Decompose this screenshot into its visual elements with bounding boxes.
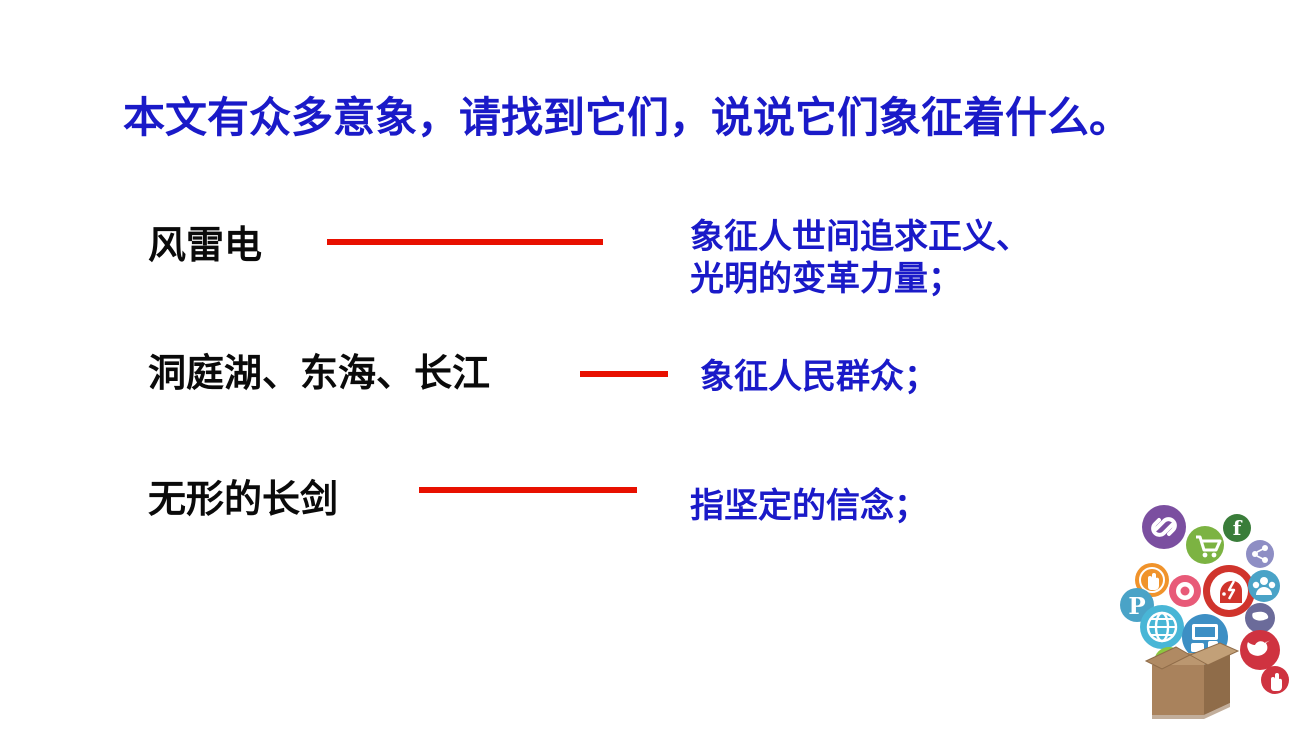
imagery-meaning-1: 象征人世间追求正义、 光明的变革力量； <box>690 216 1120 300</box>
click-hand-icon <box>1261 666 1289 694</box>
shopping-cart-icon <box>1186 526 1224 564</box>
connector-rule-3 <box>419 487 637 493</box>
page-title: 本文有众多意象，请找到它们，说说它们象征着什么。 <box>123 92 1173 144</box>
globe-icon <box>1140 605 1184 649</box>
imagery-meaning-1-line-2: 光明的变革力量； <box>690 258 1120 300</box>
imagery-meaning-1-line-1: 象征人世间追求正义、 <box>690 216 1120 258</box>
imagery-meaning-3: 指坚定的信念； <box>690 485 928 527</box>
connector-rule-1 <box>327 239 603 245</box>
share-icon <box>1246 540 1274 568</box>
slide-canvas: 本文有众多意象，请找到它们，说说它们象征着什么。 风雷电 象征人世间追求正义、 … <box>0 0 1296 729</box>
facebook-icon: f <box>1223 514 1251 542</box>
social-media-box-illustration: f P <box>1112 495 1292 720</box>
target-icon <box>1169 575 1201 607</box>
imagery-term-2: 洞庭湖、东海、长江 <box>148 350 490 396</box>
phone-icon <box>1245 603 1275 633</box>
group-icon <box>1248 570 1280 602</box>
cardboard-box-icon <box>1146 643 1238 719</box>
bird-icon <box>1240 630 1280 670</box>
head-idea-icon <box>1203 565 1255 617</box>
imagery-term-1: 风雷电 <box>148 222 262 268</box>
imagery-term-3: 无形的长剑 <box>148 476 338 522</box>
connector-rule-2 <box>580 371 668 377</box>
svg-text:f: f <box>1233 516 1243 540</box>
imagery-meaning-2: 象征人民群众； <box>700 356 938 398</box>
link-icon <box>1142 505 1186 549</box>
